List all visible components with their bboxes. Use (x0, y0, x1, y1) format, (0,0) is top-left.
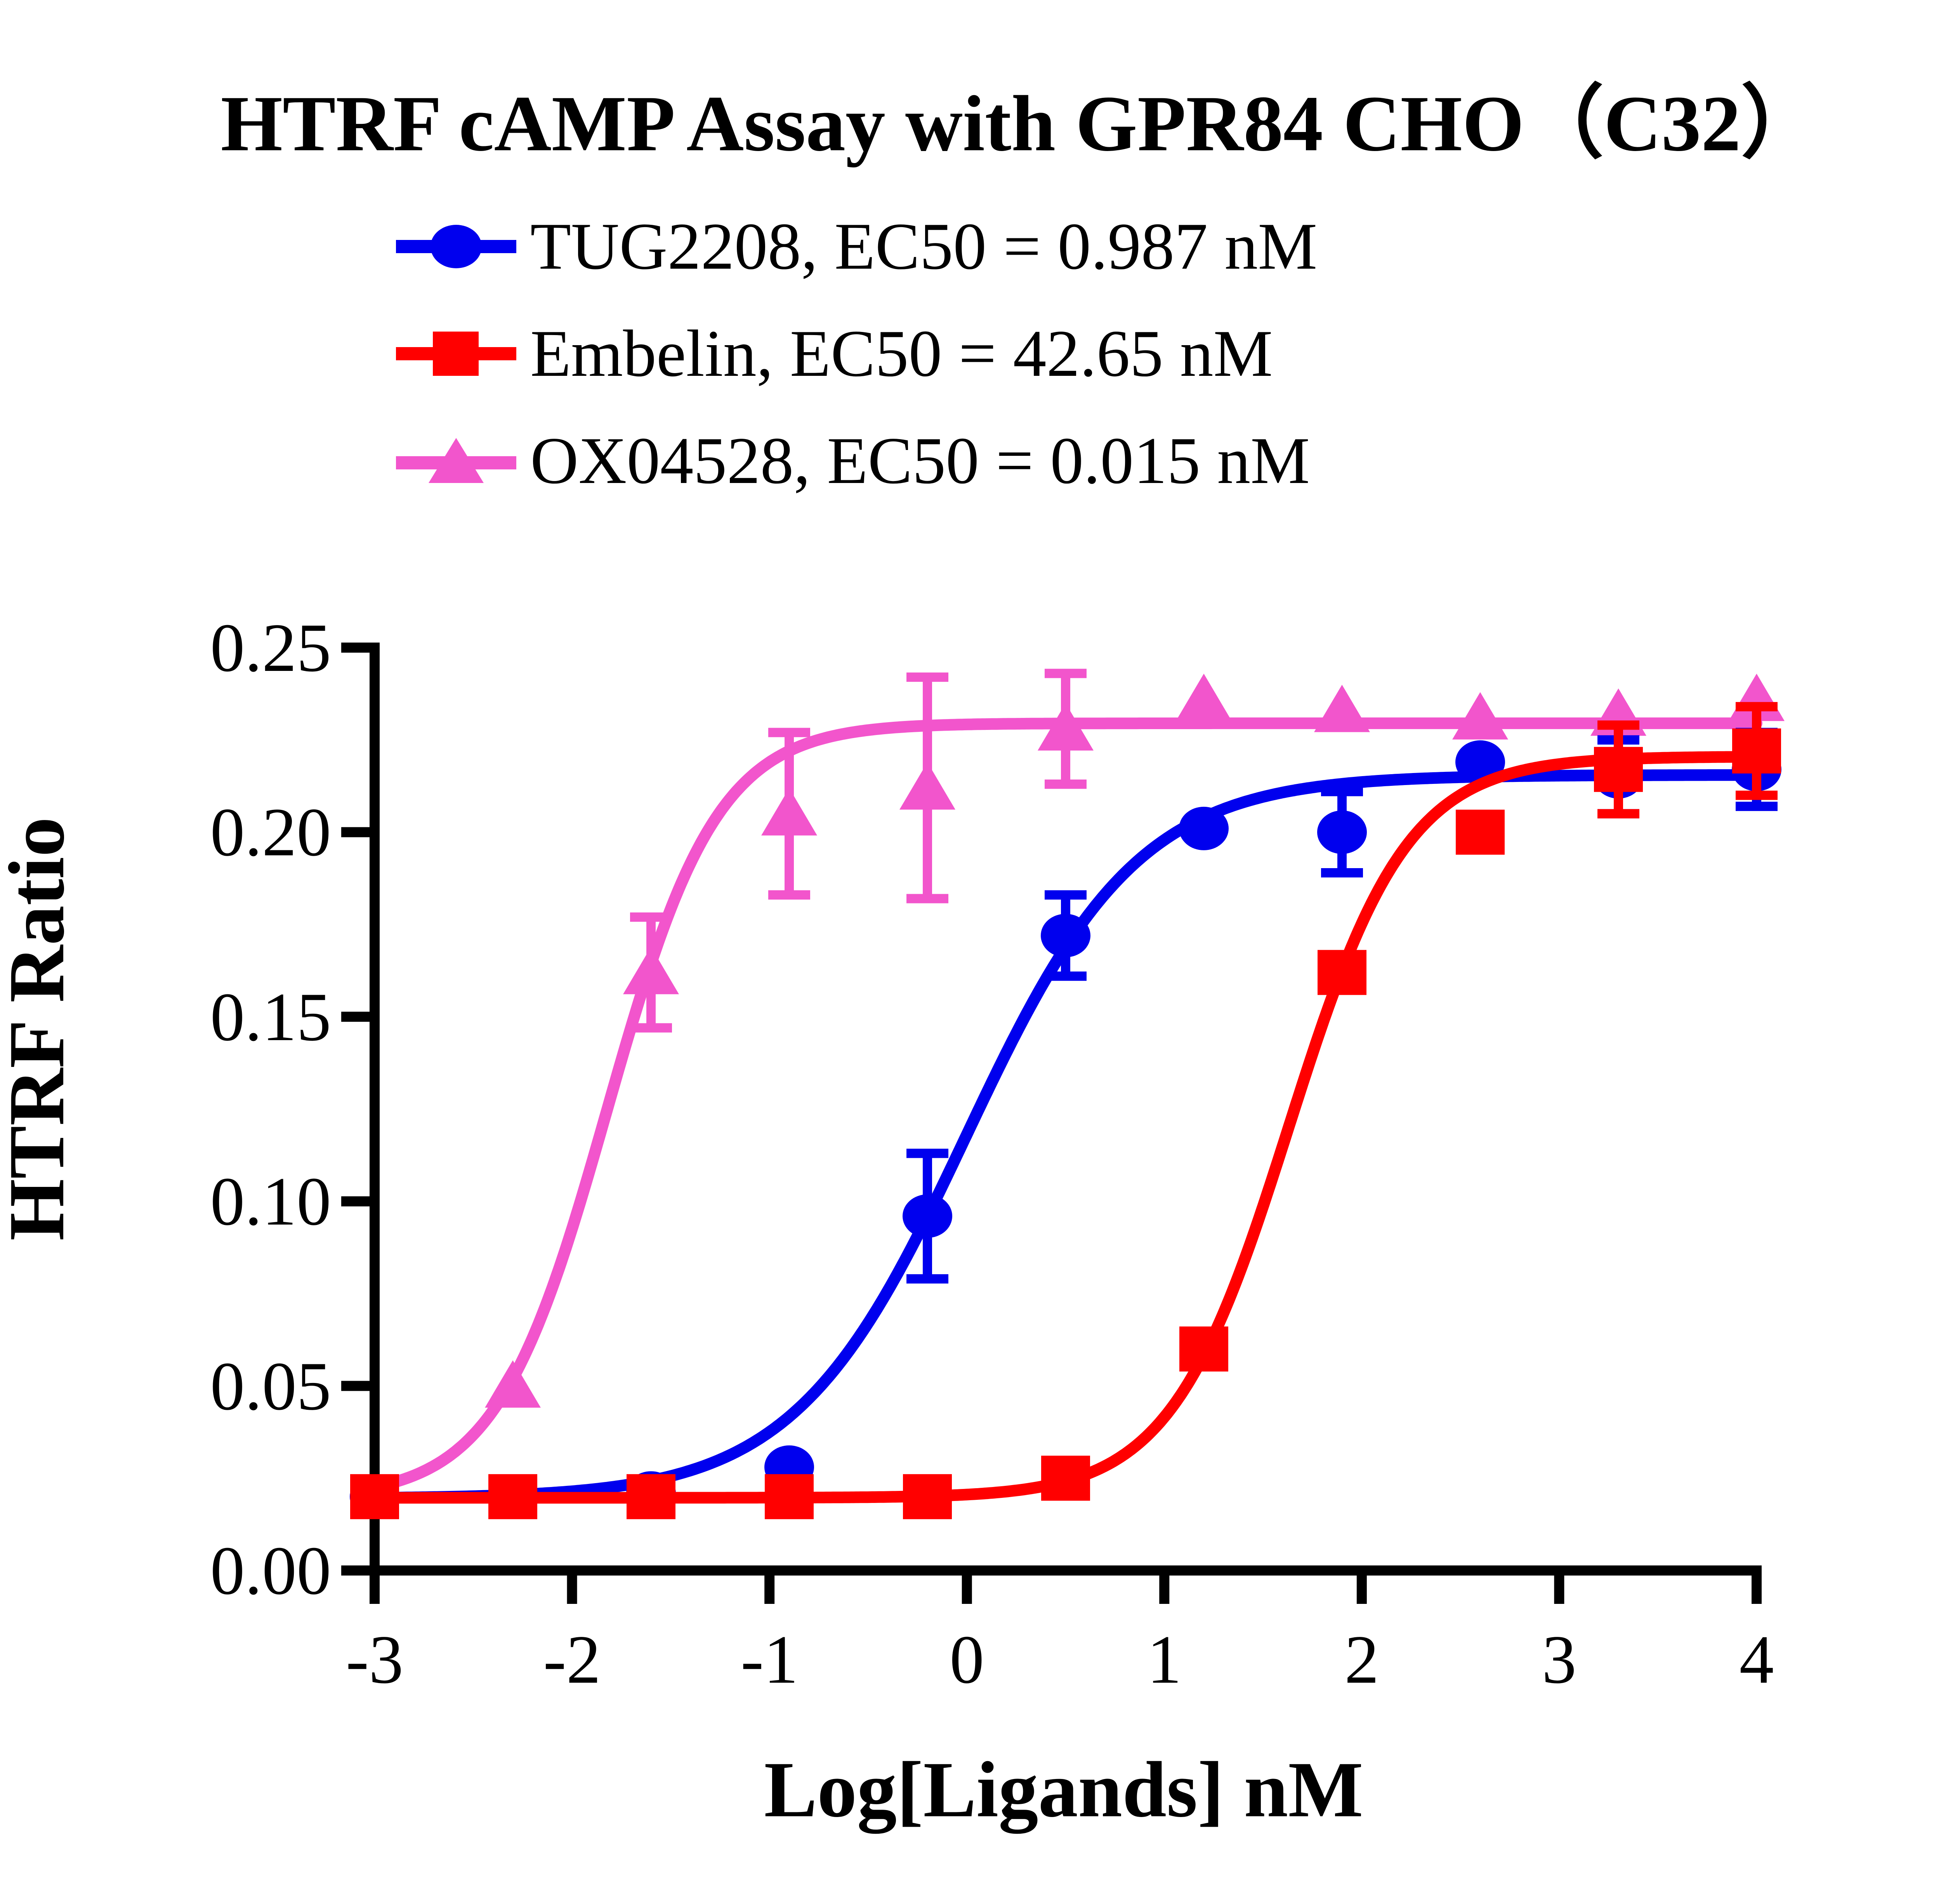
fit-curve-ox04528 (375, 723, 1757, 1487)
data-point-triangle (623, 947, 679, 994)
data-point-circle (1317, 810, 1367, 854)
fit-curve-embelin (375, 757, 1757, 1498)
x-axis-tick-label: 2 (1344, 1619, 1379, 1699)
y-axis-label: HTRF Ratio (0, 817, 83, 1240)
data-point-triangle (1452, 692, 1508, 740)
x-axis-tick-label: -1 (741, 1619, 798, 1699)
data-point-circle (1179, 807, 1229, 850)
data-point-circle (1041, 914, 1090, 957)
data-point-triangle (1176, 674, 1232, 721)
y-axis-tick-label: 0.05 (210, 1346, 332, 1426)
data-point-square (1041, 1456, 1090, 1501)
x-axis-label: Log[Ligands] nM (764, 1744, 1363, 1836)
data-point-square (765, 1474, 814, 1519)
data-point-triangle (761, 788, 817, 836)
data-point-square (1594, 747, 1643, 792)
y-axis-tick-label: 0.25 (210, 608, 332, 688)
series-embelin (350, 707, 1781, 1519)
x-axis-tick-label: 1 (1147, 1619, 1182, 1699)
y-axis-tick-label: 0.20 (210, 792, 332, 872)
plot-area (0, 0, 1941, 1904)
data-point-circle (903, 1194, 952, 1238)
fit-curve-tug2208 (375, 775, 1757, 1498)
data-point-square (1179, 1327, 1228, 1372)
y-axis-tick-label: 0.15 (210, 977, 332, 1057)
series-ox04528 (375, 674, 1785, 1487)
data-point-square (1732, 728, 1781, 773)
x-axis-tick-label: 3 (1542, 1619, 1576, 1699)
x-axis-tick-label: -2 (543, 1619, 601, 1699)
x-axis-tick-label: -3 (346, 1619, 403, 1699)
series-tug2208 (350, 733, 1781, 1518)
data-point-square (627, 1474, 675, 1519)
data-point-square (903, 1474, 952, 1519)
data-point-square (1456, 810, 1505, 855)
figure-root: HTRF cAMP Assay with GPR84 CHO（C32） TUG2… (0, 0, 1941, 1904)
x-axis-tick-label: 4 (1740, 1619, 1774, 1699)
y-axis-tick-label: 0.00 (210, 1530, 332, 1610)
data-point-triangle (899, 762, 955, 810)
data-point-triangle (485, 1360, 541, 1408)
data-point-square (1318, 950, 1366, 995)
data-point-triangle (1314, 685, 1370, 732)
data-point-square (350, 1474, 399, 1519)
data-point-square (488, 1474, 537, 1519)
y-axis-tick-label: 0.10 (210, 1161, 332, 1241)
x-axis-tick-label: 0 (950, 1619, 984, 1699)
